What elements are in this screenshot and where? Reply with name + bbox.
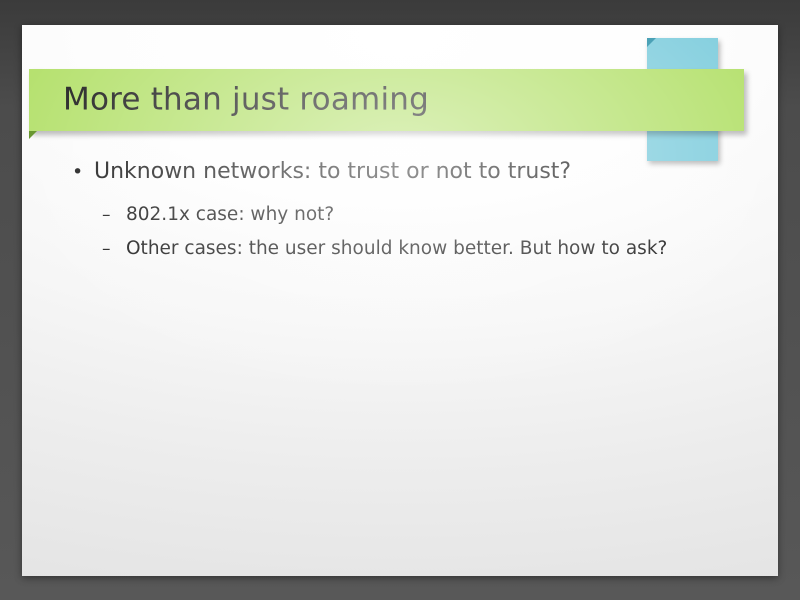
bullet-item-level1: • Unknown networks: to trust or not to t…	[44, 157, 800, 187]
cyan-block-fold-corner	[647, 38, 656, 47]
bullet-marker-dash-icon: –	[102, 235, 126, 263]
title-banner-fold-corner	[29, 131, 37, 139]
bullet-marker-dash-icon: –	[102, 201, 126, 229]
bullet-item-level2: – Other cases: the user should know bett…	[44, 235, 800, 263]
slide-body: • Unknown networks: to trust or not to t…	[44, 157, 800, 269]
slide-title: More than just roaming	[63, 81, 429, 117]
title-banner: More than just roaming	[29, 69, 744, 131]
bullet-text: 802.1x case: why not?	[126, 201, 334, 229]
slide-canvas: More than just roaming • Unknown network…	[22, 25, 778, 576]
slide-viewer: More than just roaming • Unknown network…	[0, 0, 800, 600]
bullet-text: Other cases: the user should know better…	[126, 235, 667, 263]
bullet-text: Unknown networks: to trust or not to tru…	[94, 157, 571, 187]
bullet-item-level2: – 802.1x case: why not?	[44, 201, 800, 229]
bullet-marker-dot-icon: •	[72, 157, 94, 187]
